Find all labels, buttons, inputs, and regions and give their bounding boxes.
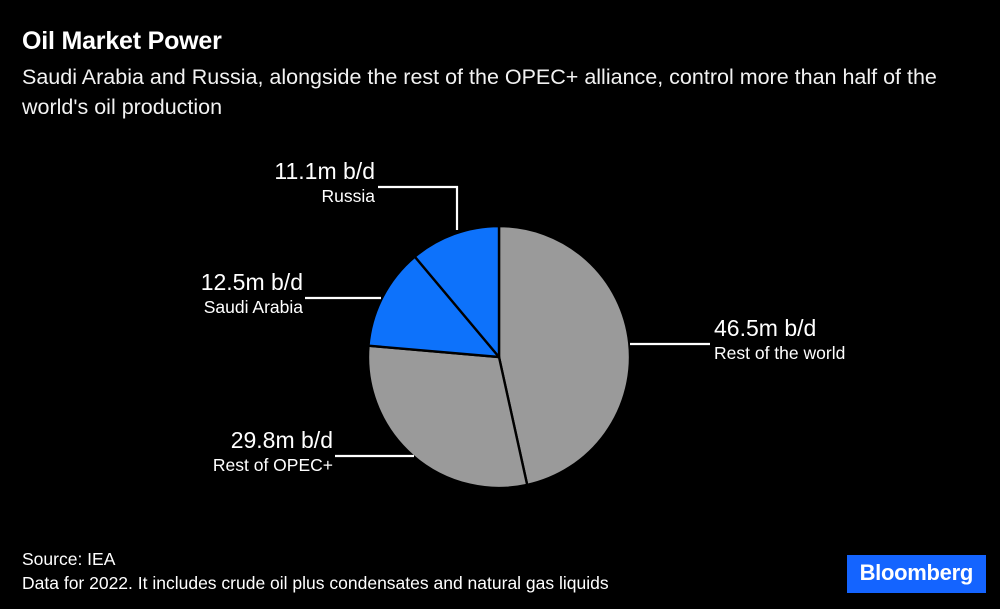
callout-rest-of-the-world-name: Rest of the world [714, 342, 979, 364]
header-block: Oil Market Power Saudi Arabia and Russia… [22, 26, 972, 122]
chart-root: Oil Market Power Saudi Arabia and Russia… [0, 0, 1000, 609]
callout-saudi-arabia-name: Saudi Arabia [60, 296, 303, 318]
bloomberg-logo: Bloomberg [847, 555, 986, 593]
pie-slice-russia [415, 226, 499, 357]
callout-rest-of-opec-value: 29.8m b/d [70, 427, 333, 454]
source-text: Source: IEA [22, 547, 822, 571]
leader-line-russia [378, 187, 457, 230]
callout-saudi-arabia: 12.5m b/d Saudi Arabia [60, 269, 303, 318]
callout-rest-of-the-world: 46.5m b/d Rest of the world [714, 315, 979, 364]
callout-rest-of-the-world-value: 46.5m b/d [714, 315, 979, 342]
pie-slice-rest-of-opec [368, 346, 527, 488]
pie-slice-group [368, 226, 630, 488]
callout-rest-of-opec: 29.8m b/d Rest of OPEC+ [70, 427, 333, 476]
page-title: Oil Market Power [22, 26, 972, 56]
leader-line-group [305, 187, 710, 456]
chart-subtitle: Saudi Arabia and Russia, alongside the r… [22, 62, 952, 122]
note-text: Data for 2022. It includes crude oil plu… [22, 571, 822, 595]
pie-slice-rest-of-the-world [499, 226, 630, 485]
callout-russia-name: Russia [140, 185, 375, 207]
callout-rest-of-opec-name: Rest of OPEC+ [70, 454, 333, 476]
footer-block: Source: IEA Data for 2022. It includes c… [22, 547, 822, 595]
pie-slice-saudi-arabia [368, 257, 499, 357]
callout-saudi-arabia-value: 12.5m b/d [60, 269, 303, 296]
callout-russia: 11.1m b/d Russia [140, 158, 375, 207]
callout-russia-value: 11.1m b/d [140, 158, 375, 185]
